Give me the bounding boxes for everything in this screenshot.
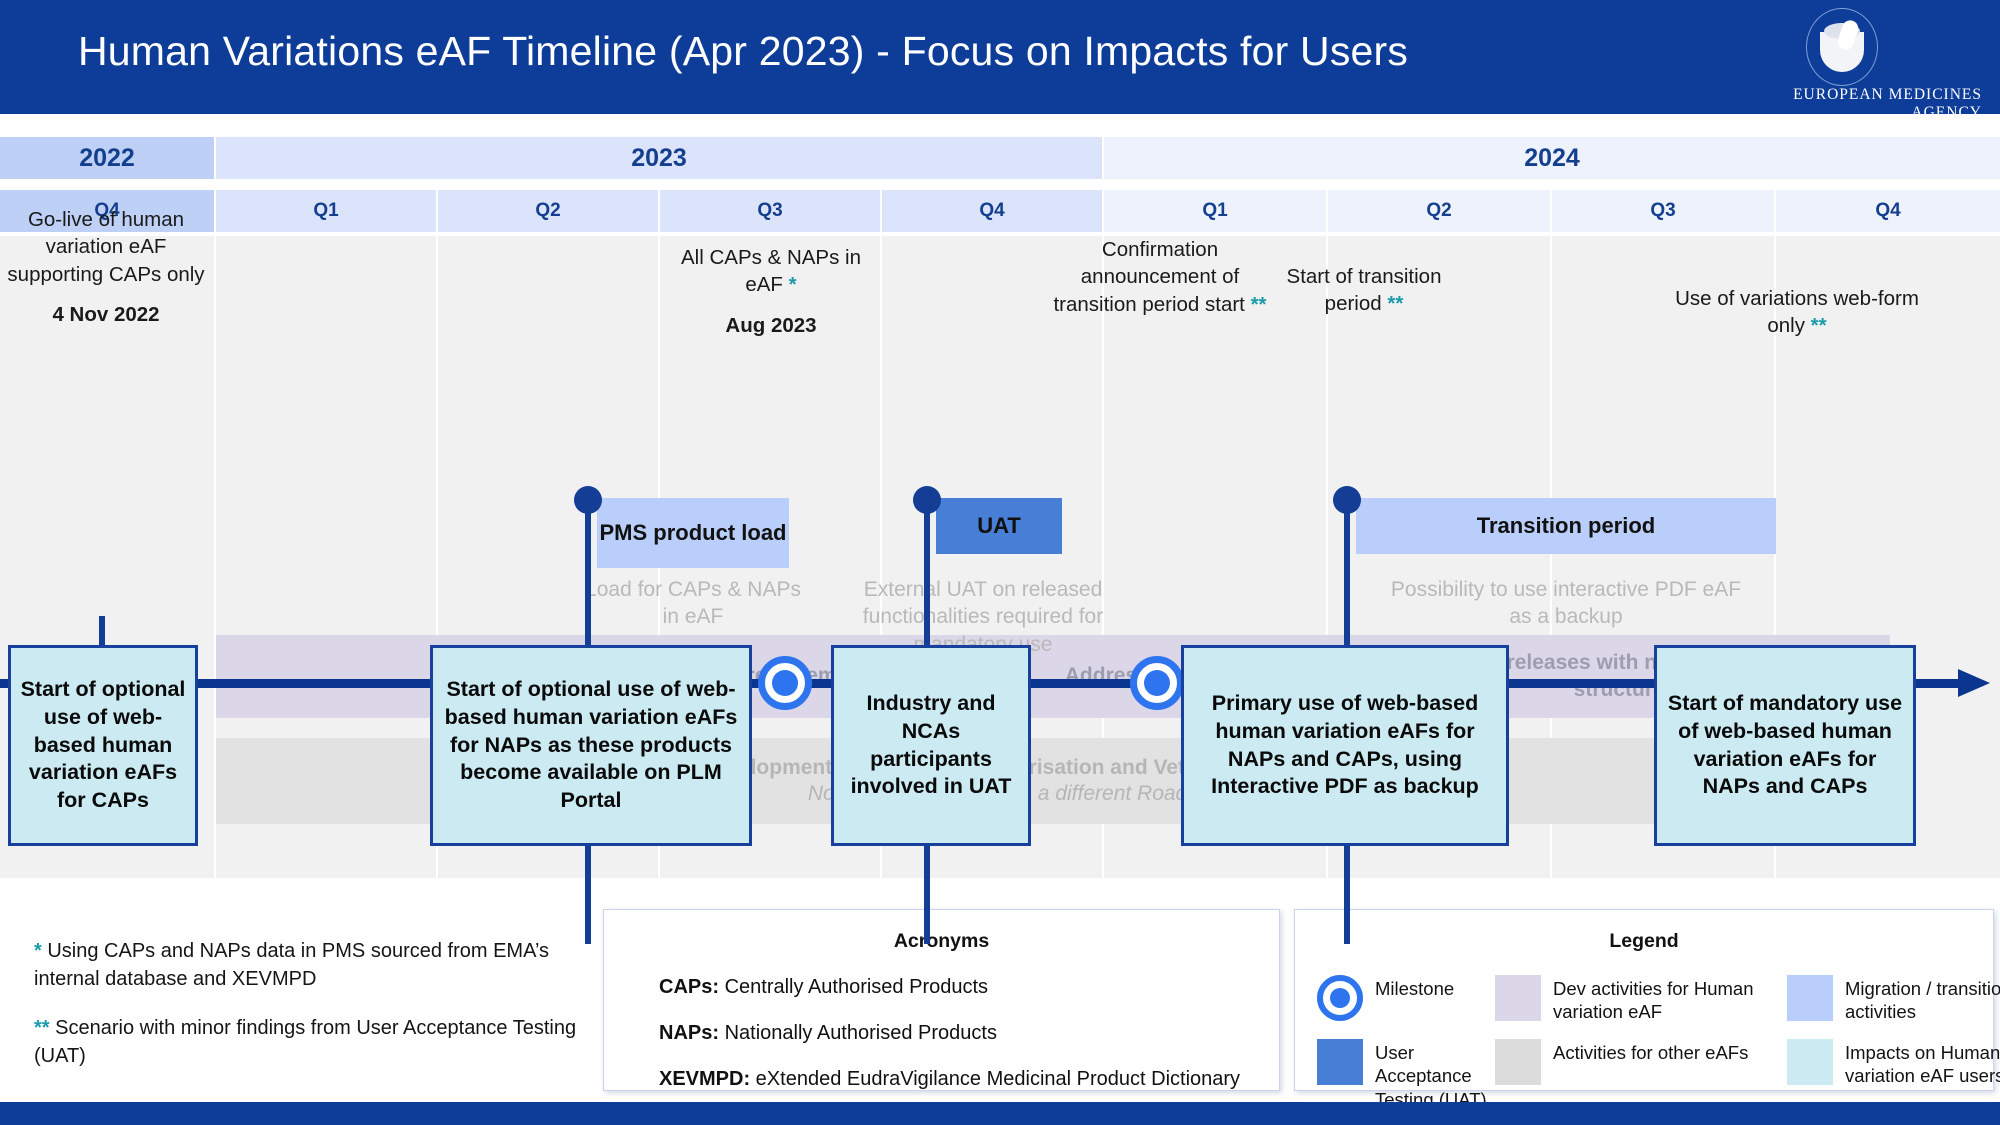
quarter-label: Q3: [1650, 200, 1675, 222]
activity-subtitle-text: External UAT on released functionalities…: [863, 578, 1103, 656]
legend-item-uat: User Acceptance Testing (UAT): [1317, 1039, 1495, 1110]
legend-item-dev-activities: Dev activities for Human variation eAF: [1495, 975, 1787, 1023]
quarter-2023-q3: Q3: [660, 190, 882, 232]
bar-connector-dot: [1333, 486, 1361, 514]
quarter-2023-q1: Q1: [216, 190, 438, 232]
quarter-label: Q2: [535, 200, 560, 222]
milestone-marker-confirmation[interactable]: [1130, 656, 1184, 710]
quarter-2023-q4: Q4: [882, 190, 1104, 232]
impact-text: Primary use of web-based human variation…: [1192, 690, 1498, 802]
logo-text: EUROPEAN MEDICINES AGENCY: [1758, 86, 1988, 122]
milestone-text: All CAPs & NAPs in eAF: [681, 246, 861, 296]
legend-swatch-icon: [1495, 975, 1541, 1021]
legend-label: Milestone: [1375, 975, 1454, 1000]
milestone-label-confirmation: Confirmation announcement of transition …: [1050, 236, 1270, 318]
milestone-text: Start of transition period: [1287, 265, 1442, 315]
legend-label: User Acceptance Testing (UAT): [1375, 1039, 1495, 1110]
quarter-label: Q4: [1875, 200, 1900, 222]
acronym-definition: eXtended EudraVigilance Medicinal Produc…: [750, 1068, 1240, 1090]
year-band-2022: 2022: [0, 137, 216, 179]
quarter-2024-q4: Q4: [1776, 190, 2000, 232]
legend-label: Activities for other eAFs: [1553, 1039, 1748, 1064]
legend-label: Impacts on Human variation eAF users: [1845, 1039, 2000, 1087]
legend-panel: Legend Milestone Dev activities for Huma…: [1294, 909, 1994, 1091]
quarter-2024-q1: Q1: [1104, 190, 1328, 232]
legend-item-impacts: Impacts on Human variation eAF users: [1787, 1039, 2000, 1110]
asterisk-marker: **: [1387, 292, 1403, 315]
impact-box-primary-use: Primary use of web-based human variation…: [1181, 645, 1509, 846]
footnotes: * Using CAPs and NAPs data in PMS source…: [34, 938, 594, 1092]
milestone-date: 4 Nov 2022: [0, 301, 212, 328]
milestone-text: Use of variations web-form only: [1675, 287, 1919, 337]
acronym-term: XEVMPD:: [659, 1068, 750, 1090]
impact-box-optional-caps: Start of optional use of web-based human…: [8, 645, 198, 846]
acronym-row-caps: CAPs: Centrally Authorised Products: [659, 976, 1279, 999]
milestone-label-go-live: Go-live of human variation eAF supportin…: [0, 206, 212, 328]
legend-items: Milestone Dev activities for Human varia…: [1317, 975, 1993, 1111]
quarter-label: Q2: [1426, 200, 1451, 222]
acronym-term: CAPs:: [659, 976, 719, 998]
legend-swatch-icon: [1787, 975, 1833, 1021]
acronym-row-xevmpd: XEVMPD: eXtended EudraVigilance Medicina…: [659, 1068, 1279, 1091]
acronyms-panel: Acronyms CAPs: Centrally Authorised Prod…: [603, 909, 1280, 1091]
activity-bar-pms-product-load: PMS product load: [597, 498, 789, 568]
year-label: 2023: [631, 144, 687, 173]
quarter-label: Q1: [313, 200, 338, 222]
impact-text: Start of mandatory use of web-based huma…: [1665, 690, 1905, 802]
milestone-text: Confirmation announcement of transition …: [1053, 238, 1250, 316]
legend-swatch-icon: [1787, 1039, 1833, 1085]
legend-label: Migration / transition activities: [1845, 975, 2000, 1023]
year-label: 2024: [1524, 144, 1580, 173]
legend-title: Legend: [1295, 930, 1993, 953]
legend-item-milestone: Milestone: [1317, 975, 1495, 1023]
quarter-label: Q4: [979, 200, 1004, 222]
activity-subtitle-text: Possibility to use interactive PDF eAF a…: [1391, 578, 1741, 628]
milestone-ring-icon: [1317, 975, 1363, 1021]
impact-connector-stem: [99, 616, 105, 648]
milestone-label-transition-start: Start of transition period **: [1278, 263, 1450, 318]
ema-logo: EUROPEAN MEDICINES AGENCY: [1758, 6, 1988, 110]
bar-connector-dot: [574, 486, 602, 514]
acronyms-title: Acronyms: [604, 930, 1279, 953]
milestone-label-webform-only: Use of variations web-form only **: [1672, 285, 1922, 340]
legend-swatch-icon: [1317, 1039, 1363, 1085]
timeline-arrow-icon: [1958, 669, 1990, 697]
activity-bar-transition-period: Transition period: [1356, 498, 1776, 554]
impact-text: Start of optional use of web-based human…: [19, 676, 187, 816]
footnote-text: Using CAPs and NAPs data in PMS sourced …: [34, 940, 549, 990]
asterisk-marker: **: [34, 1017, 50, 1039]
impact-text: Industry and NCAs participants involved …: [842, 690, 1020, 802]
bottom-accent-bar: [0, 1102, 2000, 1125]
quarter-2023-q2: Q2: [438, 190, 660, 232]
asterisk-marker: *: [789, 273, 797, 296]
milestone-date: Aug 2023: [660, 312, 882, 339]
year-band-2023: 2023: [216, 137, 1104, 179]
impact-box-industry-ncas-uat: Industry and NCAs participants involved …: [831, 645, 1031, 846]
acronym-definition: Centrally Authorised Products: [719, 976, 988, 998]
impact-box-mandatory-use: Start of mandatory use of web-based huma…: [1654, 645, 1916, 846]
asterisk-marker: **: [1811, 314, 1827, 337]
year-band-2024: 2024: [1104, 137, 2000, 179]
quarter-label: Q1: [1202, 200, 1227, 222]
milestone-text: Go-live of human variation eAF supportin…: [7, 208, 204, 286]
bar-connector-dot: [913, 486, 941, 514]
legend-label: Dev activities for Human variation eAF: [1553, 975, 1787, 1023]
legend-item-other-eafs: Activities for other eAFs: [1495, 1039, 1787, 1110]
impact-box-optional-naps: Start of optional use of web-based human…: [430, 645, 752, 846]
page-title: Human Variations eAF Timeline (Apr 2023)…: [78, 28, 1408, 75]
quarter-2024-q2: Q2: [1328, 190, 1552, 232]
milestone-label-all-caps-naps: All CAPs & NAPs in eAF * Aug 2023: [660, 244, 882, 339]
legend-item-migration: Migration / transition activities: [1787, 975, 2000, 1023]
acronym-definition: Nationally Authorised Products: [719, 1022, 997, 1044]
activity-bar-title: UAT: [977, 513, 1021, 540]
acronym-term: NAPs:: [659, 1022, 719, 1044]
timeline-plot-area: Incremental releases with new requiremen…: [0, 236, 2000, 878]
activity-bar-title: PMS product load: [600, 520, 787, 547]
acronym-row-naps: NAPs: Nationally Authorised Products: [659, 1022, 1279, 1045]
quarter-2024-q3: Q3: [1552, 190, 1776, 232]
activity-bar-subtitle-pms: Load for CAPs & NAPs in eAF: [580, 576, 806, 631]
footnote-single-asterisk: * Using CAPs and NAPs data in PMS source…: [34, 938, 594, 993]
footnote-text: Scenario with minor findings from User A…: [34, 1017, 576, 1067]
slide-canvas: Human Variations eAF Timeline (Apr 2023)…: [0, 0, 2000, 1125]
quarter-label: Q3: [757, 200, 782, 222]
impact-text: Start of optional use of web-based human…: [441, 676, 741, 816]
footnote-double-asterisk: ** Scenario with minor findings from Use…: [34, 1015, 594, 1070]
milestone-marker-all-caps-naps[interactable]: [758, 656, 812, 710]
slide-header: Human Variations eAF Timeline (Apr 2023)…: [0, 0, 2000, 114]
activity-bar-uat: UAT: [936, 498, 1062, 554]
activity-bar-subtitle-transition: Possibility to use interactive PDF eAF a…: [1380, 576, 1752, 631]
year-label: 2022: [79, 144, 135, 173]
activity-subtitle-text: Load for CAPs & NAPs in eAF: [585, 578, 801, 628]
asterisk-marker: *: [34, 940, 42, 962]
activity-bar-title: Transition period: [1477, 513, 1655, 540]
asterisk-marker: **: [1251, 293, 1267, 316]
legend-swatch-icon: [1495, 1039, 1541, 1085]
